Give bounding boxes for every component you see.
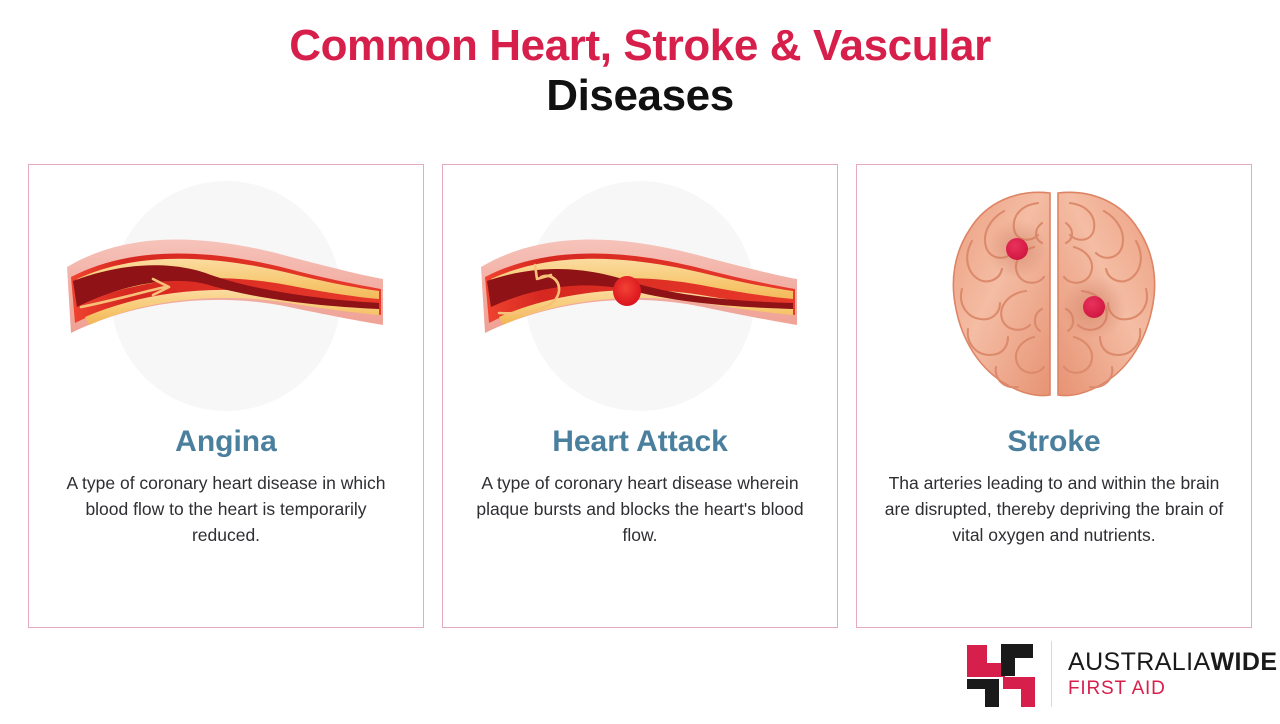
card-title-angina: Angina [175,427,277,457]
logo-wordmark-line-1: AUSTRALIAWIDE [1068,648,1277,676]
page-title-line-1: Common Heart, Stroke & Vascular [0,22,1280,70]
disease-card-list: Angina A type of coronary heart disease … [28,164,1252,628]
heart-attack-illustration [443,165,837,427]
stroke-illustration [857,165,1251,427]
logo-wordmark-line-2: FIRST AID [1068,678,1277,700]
disease-card-heart-attack[interactable]: Heart Attack A type of coronary heart di… [442,164,838,628]
logo-divider [1051,641,1052,707]
brand-logo[interactable]: AUSTRALIAWIDE FIRST AID [965,636,1277,712]
pinwheel-cross-icon [965,639,1037,709]
disease-card-stroke[interactable]: Stroke Tha arteries leading to and withi… [856,164,1252,628]
blocked-artery-icon [475,221,805,371]
logo-word-wide: WIDE [1211,648,1278,676]
card-description-angina: A type of coronary heart disease in whic… [50,471,402,549]
page-title: Common Heart, Stroke & Vascular Diseases [0,22,1280,119]
disease-card-angina[interactable]: Angina A type of coronary heart disease … [28,164,424,628]
card-title-heart-attack: Heart Attack [552,427,728,457]
stroke-site-marker-left [1006,238,1028,260]
card-description-stroke: Tha arteries leading to and within the b… [878,471,1230,549]
logo-word-australia: AUSTRALIA [1068,648,1211,676]
blood-clot [613,276,641,306]
logo-wordmark: AUSTRALIAWIDE FIRST AID [1068,648,1277,700]
brain-top-view-icon [938,185,1170,407]
stroke-site-marker-right [1083,296,1105,318]
infographic-root: Common Heart, Stroke & Vascular Diseases [0,0,1280,724]
card-description-heart-attack: A type of coronary heart disease wherein… [464,471,816,549]
card-title-stroke: Stroke [1007,427,1100,457]
page-title-line-2: Diseases [0,72,1280,120]
angina-illustration [29,165,423,427]
narrowed-artery-icon [61,221,391,371]
